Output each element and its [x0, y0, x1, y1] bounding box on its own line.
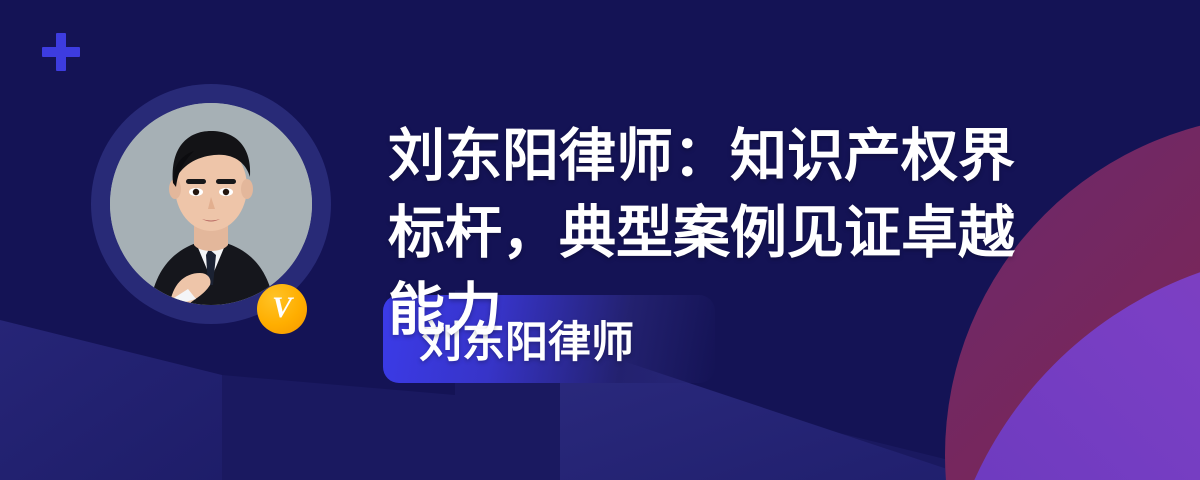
avatar: V	[91, 84, 331, 324]
wedge-left-dark	[222, 375, 455, 480]
plus-icon	[42, 33, 80, 71]
headline-block: 刘东阳律师：知识产权界 标杆，典型案例见证卓越	[388, 118, 1088, 272]
headline-line-1: 刘东阳律师：知识产权界	[388, 118, 1088, 195]
verified-v-badge: V	[257, 284, 307, 334]
verified-v-glyph: V	[272, 293, 292, 323]
avatar-photo	[110, 103, 312, 305]
headline-line-2: 标杆，典型案例见证卓越	[388, 195, 1088, 272]
avatar-portrait-illustration	[110, 103, 312, 305]
page-title: 刘东阳律师：知识产权界 标杆，典型案例见证卓越	[388, 118, 1088, 272]
headline-line-3: 能力	[388, 272, 502, 349]
wedge-left	[0, 320, 222, 480]
profile-banner: V 刘东阳律师：知识产权界 标杆，典型案例见证卓越 刘东阳律师 能力	[0, 0, 1200, 480]
